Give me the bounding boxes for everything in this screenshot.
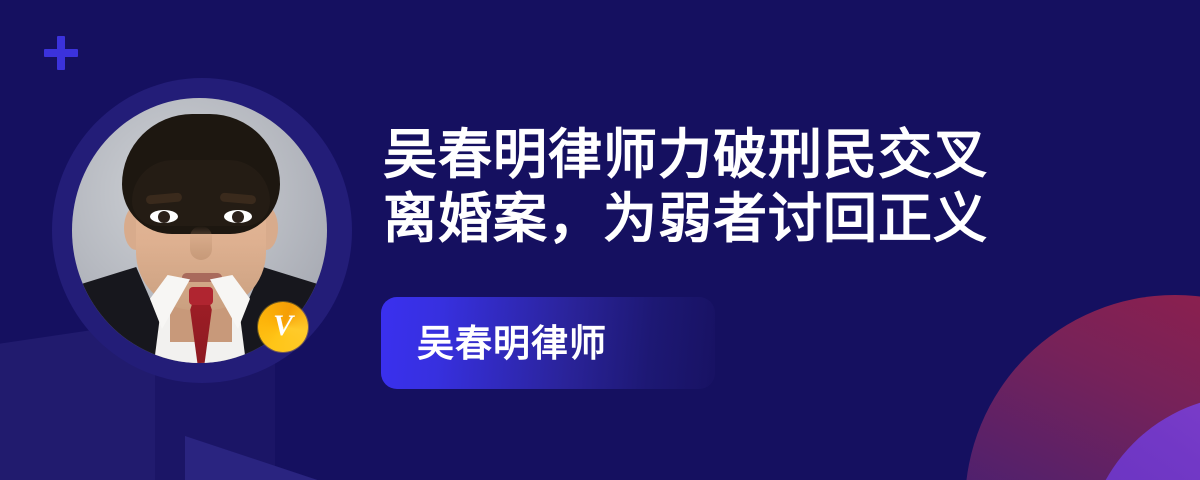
portrait-nose — [190, 226, 212, 260]
decorative-polygon-triangle — [185, 436, 445, 480]
promo-banner: V 吴春明律师力破刑民交叉 离婚案，为弱者讨回正义 吴春明律师 — [0, 0, 1200, 480]
portrait-necktie-knot — [189, 287, 213, 305]
author-name-label: 吴春明律师 — [417, 325, 607, 362]
author-name-button[interactable]: 吴春明律师 — [381, 297, 715, 389]
decorative-circle-red — [965, 295, 1200, 480]
page-title: 吴春明律师力破刑民交叉 离婚案，为弱者讨回正义 — [383, 124, 1083, 251]
verified-badge-icon: V — [258, 302, 308, 352]
avatar: V — [52, 78, 352, 383]
portrait-eye-left — [150, 210, 178, 223]
portrait-eye-right — [224, 210, 252, 223]
verified-badge-glyph: V — [273, 311, 293, 341]
page-title-line-1: 吴春明律师力破刑民交叉 — [383, 124, 1083, 188]
page-title-line-2: 离婚案，为弱者讨回正义 — [383, 188, 1083, 252]
plus-icon — [44, 36, 78, 70]
decorative-circle-purple — [1085, 395, 1200, 480]
portrait-hair — [122, 114, 280, 234]
